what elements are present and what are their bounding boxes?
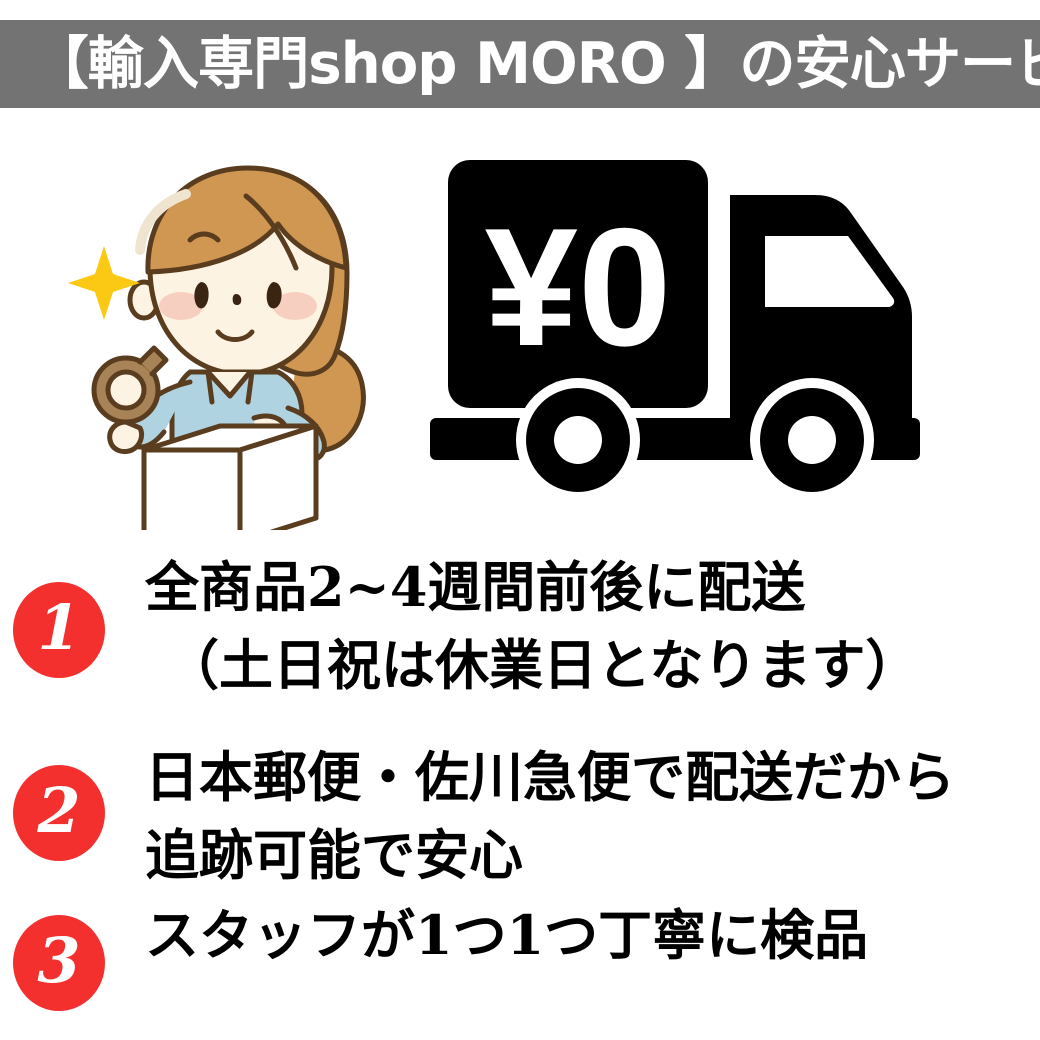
truck-price-label: ¥0 — [485, 193, 672, 381]
list-number-badge: 2 — [13, 765, 105, 861]
list-item-line: 全商品2~4週間前後に配送 — [145, 548, 919, 626]
list-number: 3 — [37, 930, 80, 992]
illustration-row: ¥0 — [0, 108, 1040, 538]
list-item-text: スタッフが1つ1つ丁寧に検品 — [145, 896, 868, 974]
list-number: 1 — [37, 597, 80, 659]
list-item-line: スタッフが1つ1つ丁寧に検品 — [145, 896, 868, 974]
header-banner: 【輸入専門shop MORO 】の安心サービス — [0, 20, 1040, 108]
page-title: 【輸入専門shop MORO 】の安心サービス — [0, 36, 1040, 93]
list-item-line: （土日祝は休業日となります） — [145, 626, 919, 704]
list-number-badge: 1 — [13, 582, 105, 678]
list-item-line: 日本郵便・佐川急便で配送だから — [145, 738, 955, 816]
delivery-truck-icon: ¥0 — [420, 140, 1000, 510]
list-number: 2 — [37, 780, 80, 842]
woman-inspecting-package-illustration — [40, 150, 400, 530]
promo-card: 【輸入専門shop MORO 】の安心サービス — [0, 0, 1040, 1040]
list-item-text: 日本郵便・佐川急便で配送だから 追跡可能で安心 — [145, 738, 955, 894]
list-item-line: 追跡可能で安心 — [145, 816, 955, 894]
list-item-text: 全商品2~4週間前後に配送 （土日祝は休業日となります） — [145, 548, 919, 704]
list-number-badge: 3 — [13, 915, 105, 1011]
